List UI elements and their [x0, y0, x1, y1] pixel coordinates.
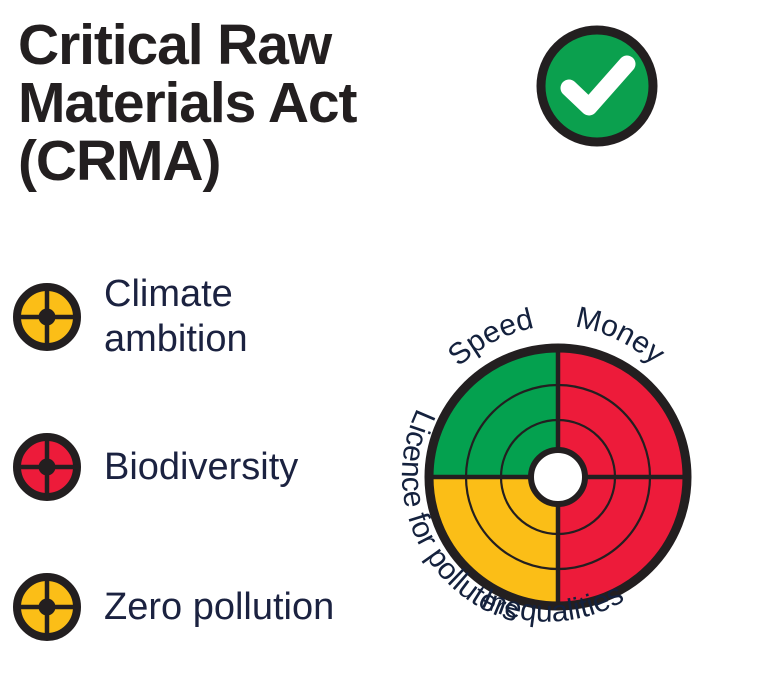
infographic-page: Critical Raw Materials Act (CRMA) Climat… — [0, 0, 767, 699]
quadrant-dial-chart: Speed Money Inequalities Licence for pol… — [348, 288, 767, 688]
legend-item-label: Zero pollution — [104, 585, 334, 630]
legend-item-climate-ambition: Climate ambition — [10, 272, 248, 362]
legend-item-label: Climate ambition — [104, 272, 248, 362]
title-line-2: Materials Act — [18, 74, 488, 132]
page-title: Critical Raw Materials Act (CRMA) — [18, 16, 488, 190]
dial-hub — [531, 450, 585, 504]
legend-item-label: Biodiversity — [104, 445, 298, 490]
legend-item-biodiversity: Biodiversity — [10, 430, 298, 504]
title-line-1: Critical Raw — [18, 16, 488, 74]
legend-item-zero-pollution: Zero pollution — [10, 570, 334, 644]
target-icon — [10, 570, 84, 644]
check-circle-icon — [533, 22, 661, 150]
target-icon — [10, 430, 84, 504]
title-line-3: (CRMA) — [18, 132, 488, 190]
verdict-badge — [533, 22, 661, 150]
target-icon — [10, 280, 84, 354]
